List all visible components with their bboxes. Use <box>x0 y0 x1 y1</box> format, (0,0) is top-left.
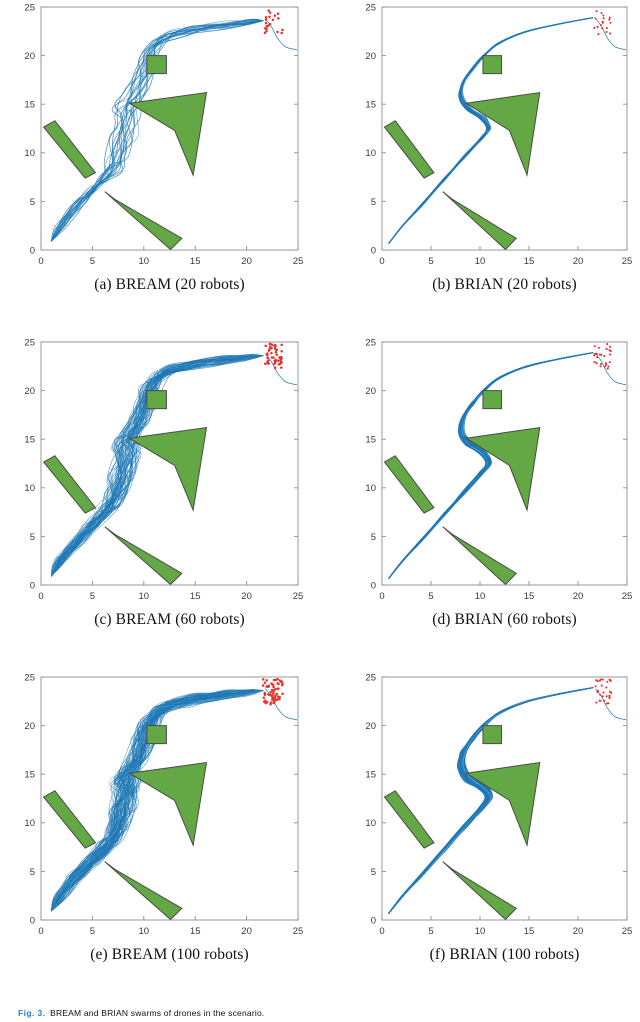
goal-marker <box>600 678 602 680</box>
x-tick-label: 5 <box>90 256 95 267</box>
goal-marker <box>281 693 284 696</box>
x-tick-label: 0 <box>379 591 384 602</box>
goal-marker <box>600 363 602 365</box>
goal-marker <box>609 361 611 363</box>
goal-marker <box>605 686 607 688</box>
x-tick-label: 25 <box>622 256 633 267</box>
goal-marker <box>596 356 598 358</box>
plot-f: 05101520250510152025 <box>356 671 635 940</box>
goal-marker <box>595 362 597 364</box>
goal-marker <box>594 17 596 19</box>
goal-marker <box>598 347 600 349</box>
panel-caption-d: (d) BRIAN (60 robots) <box>382 611 627 629</box>
x-tick-label: 0 <box>38 256 43 267</box>
y-tick-label: 20 <box>24 721 35 732</box>
x-tick-label: 5 <box>90 591 95 602</box>
panel-caption-a: (a) BREAM (20 robots) <box>41 276 298 294</box>
x-tick-label: 10 <box>139 591 150 602</box>
y-tick-label: 5 <box>30 197 35 208</box>
goal-marker <box>279 358 282 361</box>
x-tick-label: 15 <box>524 591 535 602</box>
goal-marker <box>600 12 602 14</box>
goal-marker <box>609 17 611 19</box>
panel-a: 05101520250510152025 <box>15 1 306 270</box>
y-tick-label: 15 <box>24 770 35 781</box>
x-tick-label: 25 <box>622 591 633 602</box>
goal-marker <box>266 357 269 360</box>
goal-marker <box>280 344 283 347</box>
x-tick-label: 0 <box>379 926 384 937</box>
goal-marker <box>265 22 268 25</box>
plot-a: 05101520250510152025 <box>15 1 306 270</box>
plot-e: 05101520250510152025 <box>15 671 306 940</box>
goal-marker <box>273 679 276 682</box>
goal-marker <box>270 691 273 694</box>
goal-marker <box>267 362 270 365</box>
goal-marker <box>265 345 268 348</box>
y-tick-label: 0 <box>371 245 376 256</box>
goal-marker <box>270 683 273 686</box>
goal-marker <box>597 33 599 35</box>
goal-marker <box>271 699 274 702</box>
goal-marker <box>264 27 267 30</box>
goal-marker <box>605 31 607 33</box>
goal-marker <box>275 351 278 354</box>
goal-marker <box>595 679 597 681</box>
panel-c: 05101520250510152025 <box>15 336 306 605</box>
goal-marker <box>279 679 282 682</box>
square-obstacle <box>483 726 502 744</box>
goal-marker <box>274 699 277 702</box>
goal-marker <box>281 682 284 685</box>
goal-marker <box>265 16 268 19</box>
plot-background <box>41 342 298 585</box>
goal-marker <box>599 694 601 696</box>
goal-marker <box>609 22 611 24</box>
goal-marker <box>595 685 597 687</box>
panel-f: 05101520250510152025 <box>356 671 635 940</box>
goal-marker <box>276 353 279 356</box>
goal-marker <box>266 354 269 357</box>
goal-marker <box>609 354 611 356</box>
goal-marker <box>596 691 598 693</box>
x-tick-label: 25 <box>293 591 304 602</box>
x-tick-label: 10 <box>139 926 150 937</box>
x-tick-label: 15 <box>524 256 535 267</box>
goal-marker <box>264 694 267 697</box>
x-tick-label: 10 <box>139 256 150 267</box>
x-tick-label: 5 <box>428 926 433 937</box>
goal-marker <box>607 368 609 370</box>
y-tick-label: 10 <box>24 483 35 494</box>
panel-b: 05101520250510152025 <box>356 1 635 270</box>
square-obstacle <box>147 726 167 744</box>
goal-marker <box>278 696 281 699</box>
y-tick-label: 20 <box>24 386 35 397</box>
y-tick-label: 20 <box>24 51 35 62</box>
goal-marker <box>277 359 280 362</box>
goal-marker <box>600 24 602 26</box>
goal-marker <box>262 684 265 687</box>
y-tick-label: 15 <box>365 435 376 446</box>
goal-marker <box>605 364 607 366</box>
goal-marker <box>267 9 270 12</box>
x-tick-label: 10 <box>475 256 486 267</box>
plot-background <box>41 7 298 250</box>
goal-marker <box>281 29 284 32</box>
square-obstacle <box>147 391 167 409</box>
goal-marker <box>610 692 612 694</box>
goal-marker <box>276 698 279 701</box>
panel-e: 05101520250510152025 <box>15 671 306 940</box>
square-obstacle <box>147 56 167 74</box>
goal-marker <box>609 346 611 348</box>
goal-marker <box>274 14 277 16</box>
goal-marker <box>274 696 277 699</box>
x-tick-label: 20 <box>241 256 252 267</box>
x-tick-label: 15 <box>524 926 535 937</box>
figure-caption-text: BREAM and BRIAN swarms of drones in the … <box>50 1008 264 1018</box>
goal-marker <box>265 685 268 688</box>
goal-marker <box>597 26 599 28</box>
x-tick-label: 25 <box>293 256 304 267</box>
goal-marker <box>608 19 610 21</box>
x-tick-label: 15 <box>190 591 201 602</box>
goal-marker <box>272 702 275 705</box>
goal-marker <box>606 343 608 345</box>
y-tick-label: 0 <box>371 915 376 926</box>
y-tick-label: 15 <box>365 770 376 781</box>
goal-marker <box>264 32 267 35</box>
goal-marker <box>270 347 273 350</box>
goal-marker <box>600 365 602 367</box>
y-tick-label: 10 <box>365 818 376 829</box>
figure-caption: Fig. 3. BREAM and BRIAN swarms of drones… <box>18 1008 638 1022</box>
goal-marker <box>595 701 597 703</box>
goal-marker <box>269 343 272 346</box>
goal-marker <box>603 700 605 702</box>
goal-marker <box>266 25 269 28</box>
figure-root: 05101520250510152025(a) BREAM (20 robots… <box>0 0 640 1022</box>
y-tick-label: 10 <box>365 148 376 159</box>
goal-marker <box>601 684 603 686</box>
x-tick-label: 20 <box>241 591 252 602</box>
goal-marker <box>272 356 275 359</box>
goal-marker <box>596 10 598 12</box>
x-tick-label: 5 <box>428 256 433 267</box>
goal-marker <box>609 679 611 681</box>
goal-marker <box>264 682 267 685</box>
y-tick-label: 25 <box>365 337 376 348</box>
y-tick-label: 20 <box>365 721 376 732</box>
x-tick-label: 5 <box>90 926 95 937</box>
goal-marker <box>602 679 604 681</box>
y-tick-label: 10 <box>365 483 376 494</box>
goal-marker <box>268 349 271 352</box>
goal-marker <box>272 692 275 695</box>
goal-marker <box>262 678 265 681</box>
panel-caption-f: (f) BRIAN (100 robots) <box>382 946 627 964</box>
goal-marker <box>606 27 608 29</box>
goal-marker <box>607 702 609 704</box>
x-tick-label: 15 <box>190 926 201 937</box>
y-tick-label: 5 <box>371 197 376 208</box>
y-tick-label: 10 <box>24 818 35 829</box>
plot-background <box>41 677 298 920</box>
y-tick-label: 5 <box>371 867 376 878</box>
goal-marker <box>603 17 605 19</box>
goal-marker <box>606 695 608 697</box>
y-tick-label: 20 <box>365 386 376 397</box>
plot-background <box>382 7 627 250</box>
goal-marker <box>608 695 610 697</box>
y-tick-label: 5 <box>30 532 35 543</box>
y-tick-label: 0 <box>30 245 35 256</box>
y-tick-label: 25 <box>24 337 35 348</box>
goal-marker <box>593 361 595 363</box>
goal-marker <box>266 701 269 704</box>
goal-marker <box>280 356 283 359</box>
goal-marker <box>602 692 604 694</box>
panel-caption-c: (c) BREAM (60 robots) <box>41 611 298 629</box>
x-tick-label: 20 <box>573 926 584 937</box>
goal-marker <box>274 361 277 364</box>
y-tick-label: 15 <box>24 435 35 446</box>
square-obstacle <box>483 391 502 409</box>
goal-marker <box>603 355 605 357</box>
goal-marker <box>270 352 273 355</box>
goal-marker <box>606 681 608 683</box>
y-tick-label: 15 <box>365 100 376 111</box>
goal-marker <box>277 17 280 20</box>
goal-marker <box>599 354 601 356</box>
goal-marker <box>602 695 604 697</box>
goal-marker <box>274 366 277 369</box>
goal-marker <box>593 27 595 29</box>
plot-c: 05101520250510152025 <box>15 336 306 605</box>
panel-d: 05101520250510152025 <box>356 336 635 605</box>
goal-marker <box>274 348 277 351</box>
goal-marker <box>264 363 267 366</box>
goal-marker <box>276 682 279 685</box>
goal-marker <box>606 348 608 350</box>
goal-marker <box>265 18 268 21</box>
goal-marker <box>279 363 282 366</box>
x-tick-label: 10 <box>475 926 486 937</box>
goal-marker <box>602 21 604 23</box>
plot-background <box>382 342 627 585</box>
y-tick-label: 0 <box>371 580 376 591</box>
x-tick-label: 0 <box>379 256 384 267</box>
y-tick-label: 20 <box>365 51 376 62</box>
panel-caption-b: (b) BRIAN (20 robots) <box>382 276 627 294</box>
x-tick-label: 10 <box>475 591 486 602</box>
plot-background <box>382 677 627 920</box>
goal-marker <box>276 31 279 34</box>
goal-marker <box>272 686 275 689</box>
x-tick-label: 15 <box>190 256 201 267</box>
x-tick-label: 20 <box>573 591 584 602</box>
x-tick-label: 20 <box>241 926 252 937</box>
square-obstacle <box>483 56 502 74</box>
goal-marker <box>599 700 601 702</box>
goal-marker <box>280 366 283 369</box>
y-tick-label: 5 <box>30 867 35 878</box>
y-tick-label: 10 <box>24 148 35 159</box>
plot-b: 05101520250510152025 <box>356 1 635 270</box>
goal-marker <box>276 688 279 691</box>
plot-d: 05101520250510152025 <box>356 336 635 605</box>
goal-marker <box>267 359 270 362</box>
x-tick-label: 25 <box>622 926 633 937</box>
panel-caption-e: (e) BREAM (100 robots) <box>41 946 298 964</box>
y-tick-label: 5 <box>371 532 376 543</box>
goal-marker <box>269 693 272 696</box>
y-tick-label: 25 <box>24 672 35 683</box>
y-tick-label: 0 <box>30 915 35 926</box>
goal-marker <box>593 354 595 356</box>
goal-marker <box>602 14 604 16</box>
goal-marker <box>280 32 283 35</box>
goal-marker <box>271 689 274 692</box>
y-tick-label: 25 <box>365 672 376 683</box>
x-tick-label: 0 <box>38 591 43 602</box>
goal-marker <box>272 19 275 22</box>
x-tick-label: 5 <box>428 591 433 602</box>
goal-marker <box>601 27 603 29</box>
goal-marker <box>594 345 596 347</box>
y-tick-label: 0 <box>30 580 35 591</box>
goal-marker <box>609 32 611 34</box>
y-tick-label: 25 <box>365 2 376 13</box>
goal-marker <box>610 350 612 352</box>
goal-marker <box>280 350 283 353</box>
goal-marker <box>268 16 271 19</box>
y-tick-label: 25 <box>24 2 35 13</box>
goal-marker <box>265 679 268 682</box>
goal-marker <box>269 703 272 706</box>
goal-marker <box>269 23 272 26</box>
goal-marker <box>263 696 266 699</box>
x-tick-label: 25 <box>293 926 304 937</box>
y-tick-label: 15 <box>24 100 35 111</box>
goal-marker <box>595 353 597 355</box>
x-tick-label: 20 <box>573 256 584 267</box>
figure-number: Fig. 3. <box>18 1008 45 1018</box>
x-tick-label: 0 <box>38 926 43 937</box>
goal-marker <box>277 13 280 16</box>
goal-marker <box>269 11 272 14</box>
goal-marker <box>607 366 609 368</box>
